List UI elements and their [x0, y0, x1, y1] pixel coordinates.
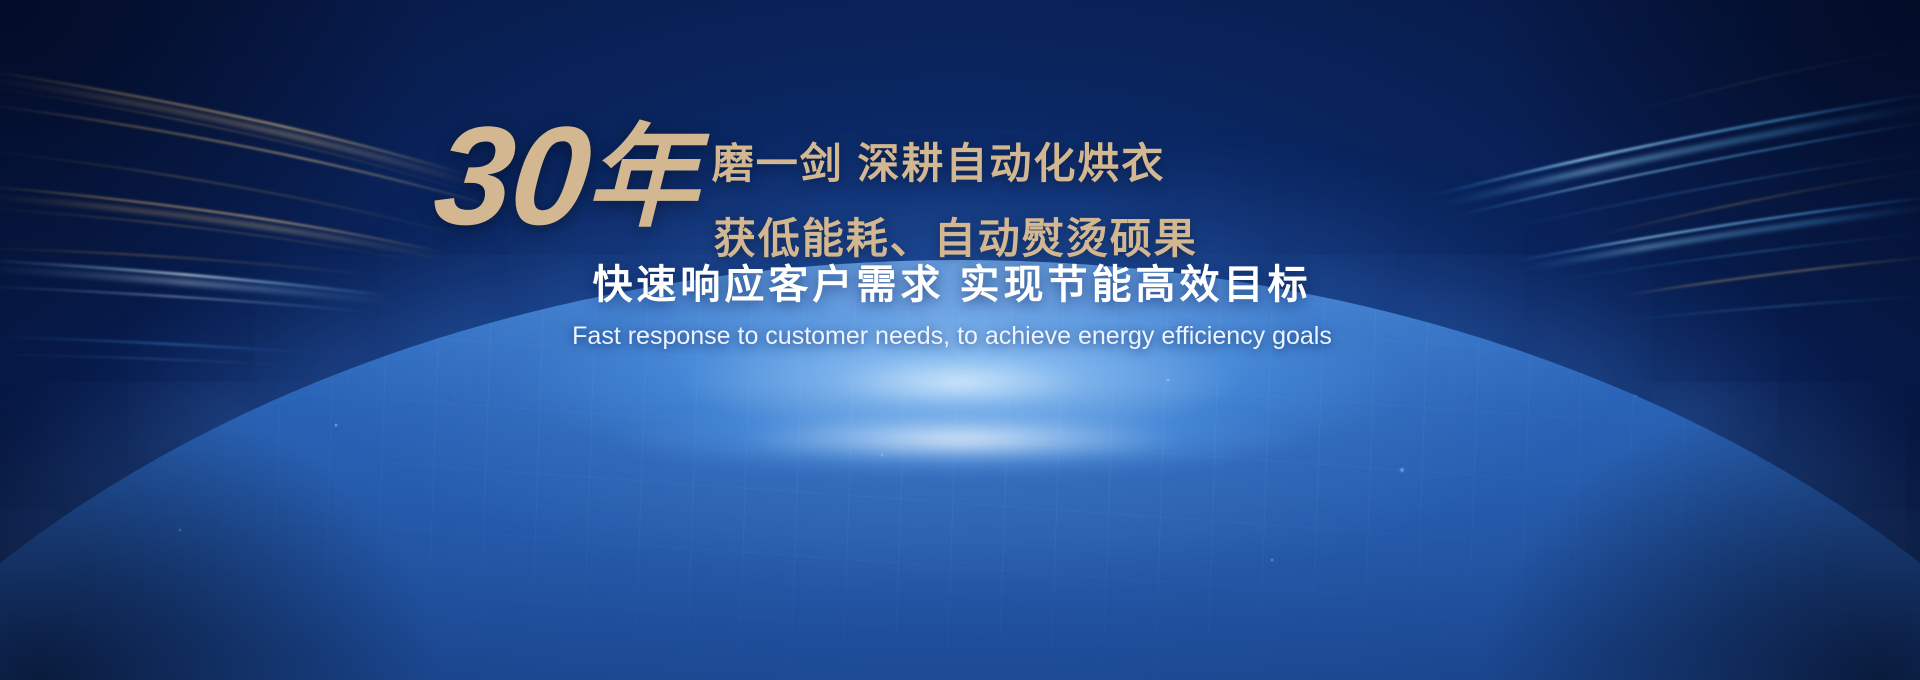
headline-row: 30 年 磨一剑 深耕自动化烘衣 获低能耗、自动熨烫硕果	[436, 112, 1198, 266]
subhead-english-text: Fast response to customer needs, to achi…	[572, 322, 1348, 350]
headline-number: 30	[429, 112, 594, 241]
banner-hero: 30 年 磨一剑 深耕自动化烘衣 获低能耗、自动熨烫硕果 快速响应客户需求 实现…	[0, 0, 1920, 680]
subhead-chinese: 快速响应客户需求 实现节能高效目标	[0, 252, 1920, 310]
banner-content: 30 年 磨一剑 深耕自动化烘衣 获低能耗、自动熨烫硕果 快速响应客户需求 实现…	[0, 0, 1920, 680]
headline-gold-line-1: 磨一剑 深耕自动化烘衣	[712, 130, 1198, 191]
headline-unit: 年	[586, 112, 698, 244]
headline-gold-lines: 磨一剑 深耕自动化烘衣 获低能耗、自动熨烫硕果	[712, 112, 1198, 266]
subhead-chinese-text: 快速响应客户需求 实现节能高效目标	[592, 263, 1327, 307]
subhead-english: Fast response to customer needs, to achi…	[0, 322, 1920, 351]
